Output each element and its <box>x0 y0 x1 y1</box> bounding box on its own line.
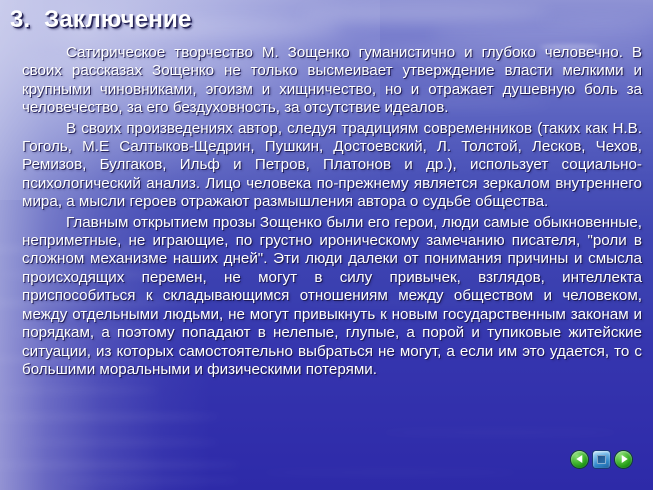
body-paragraph: Сатирическое творчество М. Зощенко гуман… <box>22 44 642 118</box>
cloud-decoration <box>540 16 653 25</box>
slide-title: 3. Заключение <box>10 6 192 34</box>
slide-body-text: Сатирическое творчество М. Зощенко гуман… <box>22 44 642 381</box>
presentation-slide: 3. Заключение Сатирическое творчество М.… <box>0 0 653 490</box>
slide-navigation-bar <box>571 450 635 468</box>
cloud-decoration <box>300 6 550 22</box>
water-streak-decoration <box>0 462 240 468</box>
right-arrow-glyph <box>621 455 627 463</box>
left-arrow-glyph <box>576 455 582 463</box>
water-streak-decoration <box>60 478 240 483</box>
water-streak-decoration <box>380 430 620 435</box>
water-streak-decoration <box>0 414 220 420</box>
cloud-decoration <box>430 28 653 40</box>
water-streak-decoration <box>20 440 220 445</box>
arrow-left-circle-icon[interactable] <box>571 451 588 468</box>
water-streak-decoration <box>0 388 160 393</box>
body-paragraph: Главным открытием прозы Зощенко были его… <box>22 214 642 380</box>
water-streak-decoration <box>260 470 520 475</box>
home-square-icon[interactable] <box>593 451 610 468</box>
home-glyph <box>597 455 606 464</box>
body-paragraph: В своих произведениях автор, следуя трад… <box>22 120 642 212</box>
arrow-right-circle-icon[interactable] <box>615 451 632 468</box>
